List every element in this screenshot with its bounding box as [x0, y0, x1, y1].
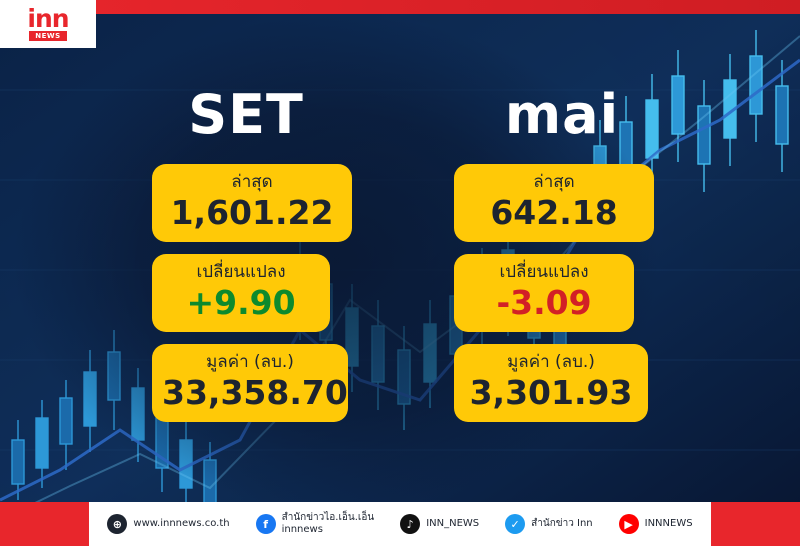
- footer-bar: ⊕ www.innnews.co.th f สำนักข่าวไอ.เอ็น.เ…: [0, 502, 800, 546]
- index-title-mai: mai: [412, 86, 712, 144]
- top-red-bar: [0, 0, 800, 14]
- mai-turnover-value: 3,301.93: [464, 373, 638, 413]
- youtube-icon: ▶: [619, 514, 639, 534]
- set-last-card: ล่าสุด 1,601.22: [152, 164, 352, 242]
- mai-change-value: -3.09: [464, 283, 624, 323]
- logo-wordmark: inn: [27, 8, 68, 30]
- mai-last-card: ล่าสุด 642.18: [454, 164, 654, 242]
- footer-item-facebook[interactable]: f สำนักข่าวไอ.เอ็น.เอ็น innnews: [256, 512, 375, 536]
- inn-news-logo: inn NEWS: [0, 0, 96, 48]
- index-column-mai: mai ล่าสุด 642.18 เปลี่ยนแปลง -3.09 มูลค…: [412, 86, 712, 422]
- footer-tiktok-text: INN_NEWS: [426, 518, 479, 530]
- index-column-set: SET ล่าสุด 1,601.22 เปลี่ยนแปลง +9.90 มู…: [96, 86, 396, 422]
- index-title-set: SET: [96, 86, 396, 144]
- set-change-card: เปลี่ยนแปลง +9.90: [152, 254, 330, 332]
- set-turnover-card: มูลค่า (ลบ.) 33,358.70: [152, 344, 348, 422]
- mai-last-value: 642.18: [464, 193, 644, 233]
- tiktok-icon: ♪: [400, 514, 420, 534]
- footer-item-tiktok[interactable]: ♪ INN_NEWS: [400, 514, 479, 534]
- logo-subtitle: NEWS: [29, 31, 66, 41]
- set-turnover-label: มูลค่า (ลบ.): [162, 351, 338, 373]
- footer-facebook-text: สำนักข่าวไอ.เอ็น.เอ็น innnews: [282, 512, 375, 536]
- set-turnover-value: 33,358.70: [162, 373, 338, 413]
- twitter-icon: ✓: [505, 514, 525, 534]
- facebook-icon: f: [256, 514, 276, 534]
- mai-turnover-label: มูลค่า (ลบ.): [464, 351, 638, 373]
- footer-website-text: www.innnews.co.th: [133, 518, 229, 530]
- set-change-value: +9.90: [162, 283, 320, 323]
- set-last-value: 1,601.22: [162, 193, 342, 233]
- set-change-label: เปลี่ยนแปลง: [162, 261, 320, 283]
- footer-youtube-text: INNNEWS: [645, 518, 693, 530]
- mai-turnover-card: มูลค่า (ลบ.) 3,301.93: [454, 344, 648, 422]
- footer-item-youtube[interactable]: ▶ INNNEWS: [619, 514, 693, 534]
- mai-change-card: เปลี่ยนแปลง -3.09: [454, 254, 634, 332]
- set-last-label: ล่าสุด: [162, 171, 342, 193]
- infographic-stage: inn NEWS SET ล่าสุด 1,601.22 เปลี่ยนแปลง…: [0, 0, 800, 546]
- footer-item-website[interactable]: ⊕ www.innnews.co.th: [107, 514, 229, 534]
- globe-icon: ⊕: [107, 514, 127, 534]
- footer-social-list: ⊕ www.innnews.co.th f สำนักข่าวไอ.เอ็น.เ…: [89, 502, 710, 546]
- footer-item-twitter[interactable]: ✓ สำนักข่าว Inn: [505, 514, 592, 534]
- footer-twitter-text: สำนักข่าว Inn: [531, 518, 592, 530]
- mai-last-label: ล่าสุด: [464, 171, 644, 193]
- mai-change-label: เปลี่ยนแปลง: [464, 261, 624, 283]
